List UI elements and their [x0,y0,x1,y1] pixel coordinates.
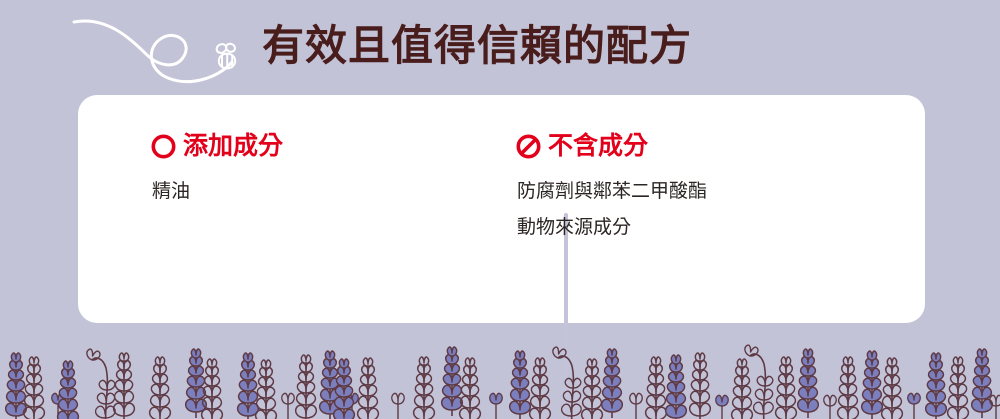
column-included-heading-label: 添加成分 [183,131,283,161]
infographic-root: 有效且值得信賴的配方 添加成分 精油 不含成分 [0,0,1000,419]
page-title: 有效且值得信賴的配方 [262,17,692,75]
prohibition-icon [515,133,542,160]
column-included-items: 精油 [152,174,190,210]
formula-card: 添加成分 精油 不含成分 防腐劑與鄰苯二甲酸酯 動物來源成分 [78,95,925,323]
list-item: 防腐劑與鄰苯二甲酸酯 [517,174,707,210]
circle-outline-icon [150,133,177,160]
header: 有效且值得信賴的配方 [0,0,1000,95]
list-item: 精油 [152,174,190,210]
list-item: 動物來源成分 [517,210,707,246]
bee-icon [211,40,245,74]
column-excluded-items: 防腐劑與鄰苯二甲酸酯 動物來源成分 [517,174,707,246]
lavender-sprigs-decoration [0,330,1000,419]
column-included-heading: 添加成分 [150,131,283,161]
column-excluded-heading: 不含成分 [515,131,648,161]
column-excluded-heading-label: 不含成分 [548,131,648,161]
